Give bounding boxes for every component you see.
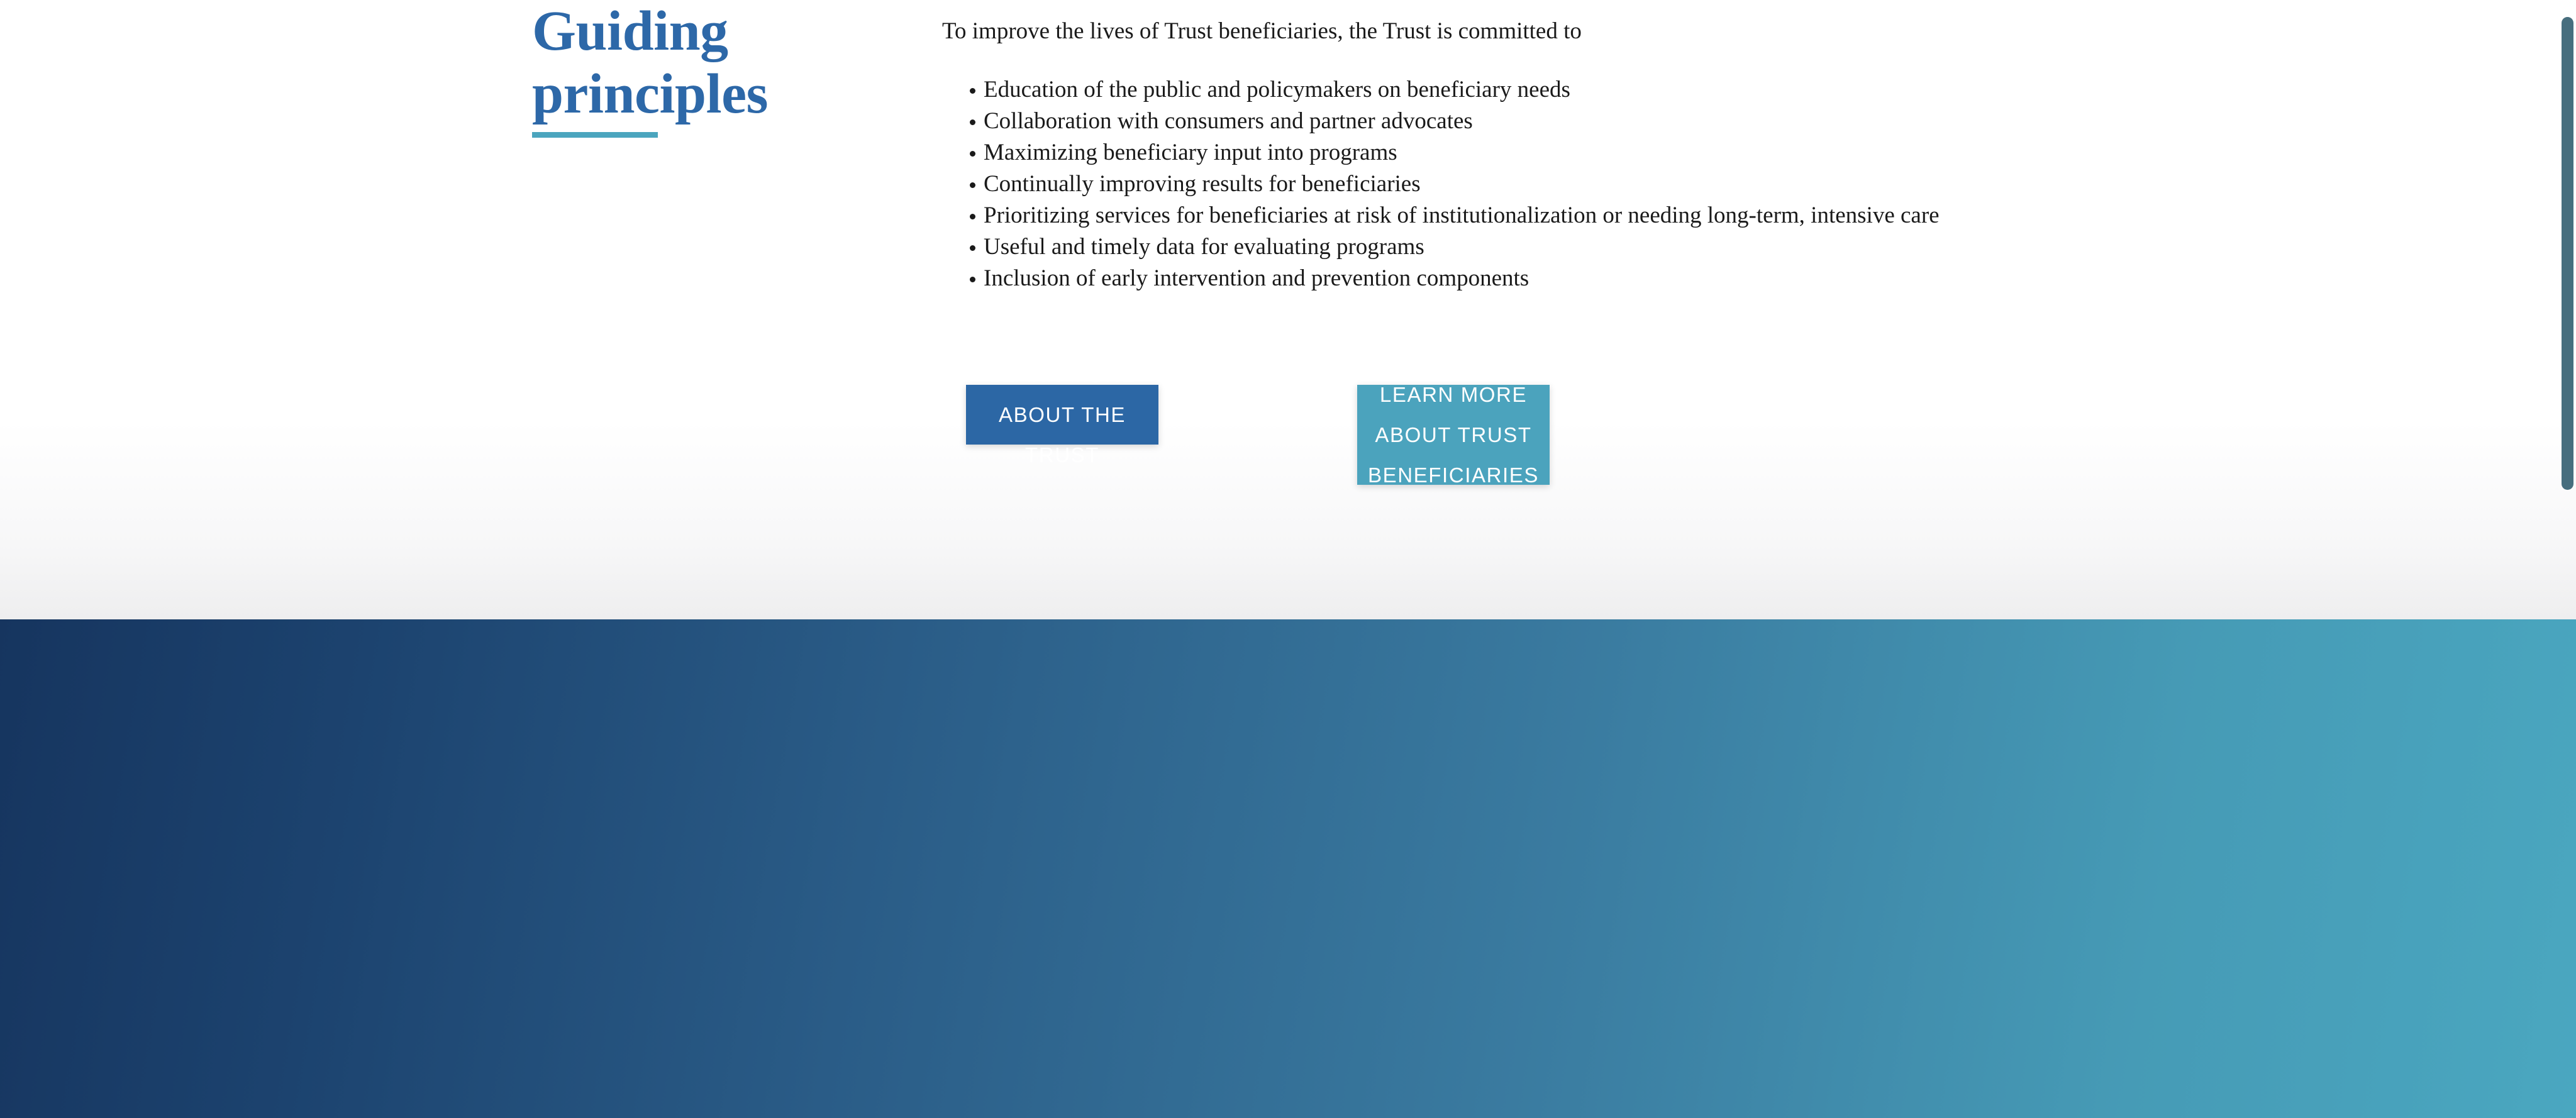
page-title-line-1: Guiding — [532, 0, 884, 63]
list-item: Collaboration with consumers and partner… — [942, 106, 2326, 137]
intro-paragraph: To improve the lives of Trust beneficiar… — [942, 16, 2326, 47]
cta-beneficiaries-line-1: LEARN MORE — [1380, 375, 1527, 415]
site-footer: Trust Alaska Mental Health Trust Authori… — [0, 619, 2576, 1118]
principles-list: Education of the public and policymakers… — [942, 74, 2326, 294]
page-title-line-2: principles — [532, 63, 884, 126]
scrollbar-track[interactable] — [2553, 0, 2576, 1118]
cta-beneficiaries-line-3: BENEFICIARIES — [1368, 455, 1539, 495]
page-content: Guiding principles To improve the lives … — [0, 0, 2576, 619]
list-item: Useful and timely data for evaluating pr… — [942, 231, 2326, 263]
title-underline-bar — [532, 132, 658, 138]
main-copy: To improve the lives of Trust beneficiar… — [942, 0, 2326, 294]
list-item: Maximizing beneficiary input into progra… — [942, 137, 2326, 169]
list-item: Continually improving results for benefi… — [942, 169, 2326, 200]
scrollbar-thumb[interactable] — [2562, 17, 2573, 490]
list-item: Inclusion of early intervention and prev… — [942, 263, 2326, 294]
page-title: Guiding principles — [532, 0, 884, 138]
learn-more-about-trust-beneficiaries-button[interactable]: LEARN MORE ABOUT TRUST BENEFICIARIES — [1357, 385, 1550, 485]
learn-more-about-the-trust-button[interactable]: LEARN MORE ABOUT THE TRUST — [966, 385, 1158, 445]
cta-trust-line-1: LEARN MORE — [989, 355, 1136, 395]
cta-trust-line-2: ABOUT THE TRUST — [972, 395, 1152, 475]
cta-beneficiaries-line-2: ABOUT TRUST — [1375, 415, 1531, 455]
list-item: Education of the public and policymakers… — [942, 74, 2326, 106]
list-item: Prioritizing services for beneficiaries … — [942, 200, 2326, 231]
